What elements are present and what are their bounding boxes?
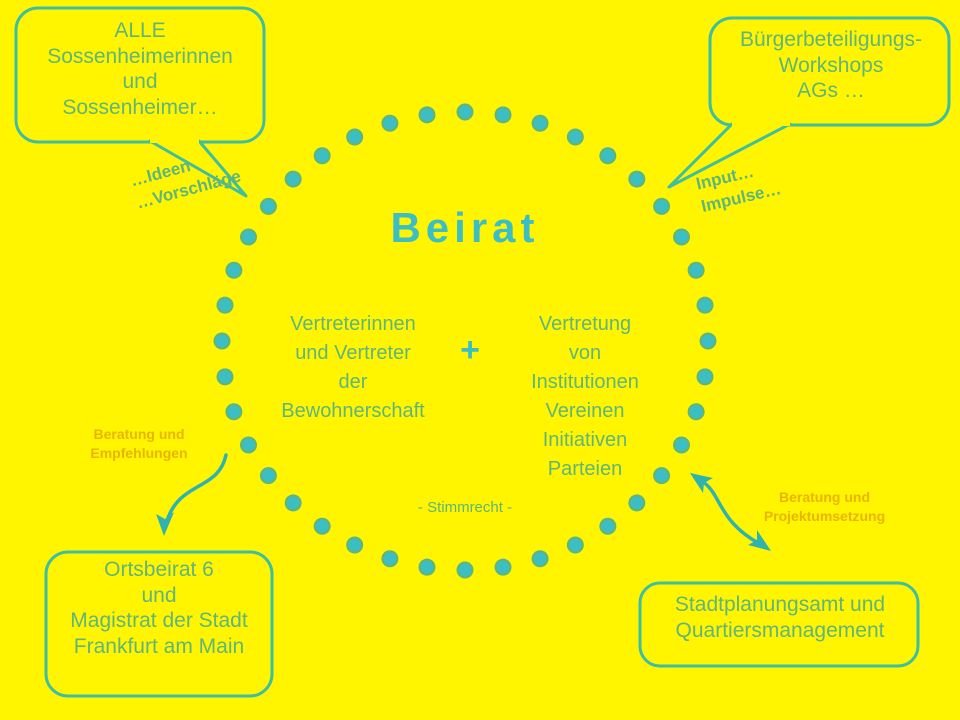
ring-dot-core [219, 299, 232, 312]
ring-dot-core [569, 131, 582, 144]
center-footnote-stimmrecht: - Stimmrecht - [355, 499, 575, 517]
arrow-left-down [156, 455, 226, 536]
ring-dot-core [602, 149, 615, 162]
ring-dot-core [287, 497, 300, 510]
ring-dot-core [262, 469, 275, 482]
ring-dot-core [690, 405, 703, 418]
ring-dot-core [348, 131, 361, 144]
ring-dot-core [690, 264, 703, 277]
speech-bubble-top-left-text: ALLE Sossenheimerinnen und Sossenheimer… [22, 18, 258, 120]
box-bottom-left-text: Ortsbeirat 6 und Magistrat der Stadt Fra… [52, 557, 266, 659]
ring-dot-core [699, 299, 712, 312]
ring-dot-core [702, 335, 715, 348]
ring-dot-core [421, 561, 434, 574]
ring-dot-core [459, 564, 472, 577]
ring-dot-core [534, 117, 547, 130]
ring-dot-core [384, 552, 397, 565]
ring-dot-core [421, 109, 434, 122]
ring-dot-core [228, 264, 241, 277]
page-title-beirat: Beirat [240, 202, 690, 253]
ring-dot-core [316, 149, 329, 162]
speech-bubble-top-right-text: Bürgerbeteiligungs- Workshops AGs … [724, 27, 938, 104]
ring-dot-core [569, 539, 582, 552]
ring-dot-core [534, 552, 547, 565]
ring-dot-core [602, 520, 615, 533]
ring-dot-core [631, 497, 644, 510]
arrow-label-beratung-empfehlungen: Beratung und Empfehlungen [74, 425, 204, 463]
ring-dot-core [287, 173, 300, 186]
ring-dot-core [242, 439, 255, 452]
ring-dot-core [631, 173, 644, 186]
box-bottom-right-text: Stadtplanungsamt und Quartiersmanagement [648, 592, 912, 643]
ring-dot-core [384, 117, 397, 130]
ring-dot-core [216, 335, 229, 348]
ring-dot-core [228, 405, 241, 418]
ring-dot-core [316, 520, 329, 533]
diagram-canvas: ALLE Sossenheimerinnen und Sossenheimer…… [0, 0, 960, 720]
ring-dot-core [699, 371, 712, 384]
ring-dot-core [497, 109, 510, 122]
ring-dot-core [497, 561, 510, 574]
ring-dot-core [219, 371, 232, 384]
ring-dot-core [459, 106, 472, 119]
ring-dot-core [348, 539, 361, 552]
center-column-right: Vertretung von Institutionen Vereinen In… [490, 310, 680, 484]
arrow-label-beratung-projektumsetzung: Beratung und Projektumsetzung [742, 488, 907, 526]
center-column-left: Vertreterinnen und Vertreter der Bewohne… [258, 310, 448, 426]
